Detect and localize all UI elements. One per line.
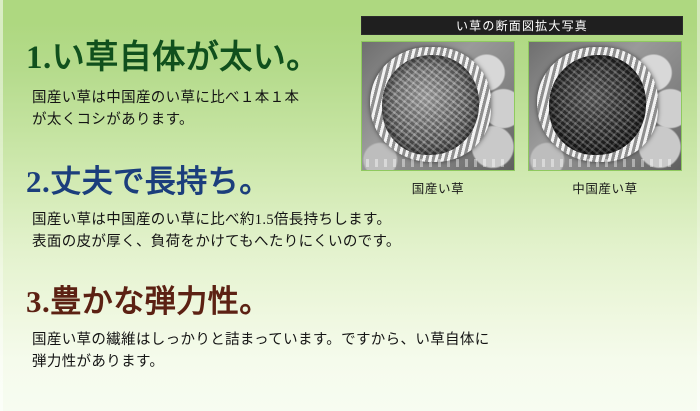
feature-section-3: 3.豊かな弾力性。 国産い草の繊維はしっかりと詰まっています。ですから、い草自体…	[26, 286, 490, 374]
photo-row: 国産い草 中国産い草	[361, 41, 683, 197]
feature-2-body-line-2: 表面の皮が厚く、負荷をかけてもへたりにくいのです。	[32, 231, 401, 253]
photo-caption-domestic: 国産い草	[361, 178, 515, 197]
feature-1-body-line-1: 国産い草は中国産のい草に比べ１本１本	[32, 87, 320, 109]
feature-section-2: 2.丈夫で長持ち。 国産い草は中国産のい草に比べ約1.5倍長持ちします。 表面の…	[26, 166, 401, 254]
promo-poster: 1.い草自体が太い。 国産い草は中国産のい草に比べ１本１本 が太くコシがあります…	[0, 0, 700, 411]
photo-frame-chinese	[528, 41, 682, 171]
photo-frame-domestic	[361, 41, 515, 171]
cross-section-photo-panel: い草の断面図拡大写真 国産い草	[361, 16, 683, 197]
feature-2-heading: 2.丈夫で長持ち。	[26, 166, 401, 197]
feature-1-body: 国産い草は中国産のい草に比べ１本１本 が太くコシがあります。	[32, 87, 320, 132]
photo-caption-chinese: 中国産い草	[528, 178, 682, 197]
sem-photo-chinese-icon	[529, 42, 681, 170]
feature-2-body: 国産い草は中国産のい草に比べ約1.5倍長持ちします。 表面の皮が厚く、負荷をかけ…	[32, 209, 401, 254]
photo-panel-header: い草の断面図拡大写真	[361, 16, 683, 35]
photo-cell-chinese: 中国産い草	[528, 41, 682, 197]
feature-3-body-line-1: 国産い草の繊維はしっかりと詰まっています。ですから、い草自体に	[32, 329, 490, 351]
content-area: 1.い草自体が太い。 国産い草は中国産のい草に比べ１本１本 が太くコシがあります…	[0, 0, 700, 411]
feature-3-body: 国産い草の繊維はしっかりと詰まっています。ですから、い草自体に 弾力性があります…	[32, 329, 490, 374]
feature-3-body-line-2: 弾力性があります。	[32, 351, 490, 373]
feature-section-1: 1.い草自体が太い。 国産い草は中国産のい草に比べ１本１本 が太くコシがあります…	[26, 42, 320, 132]
feature-1-heading: 1.い草自体が太い。	[26, 42, 320, 75]
feature-2-body-line-1: 国産い草は中国産のい草に比べ約1.5倍長持ちします。	[32, 209, 401, 231]
sem-photo-domestic-icon	[362, 42, 514, 170]
feature-1-body-line-2: が太くコシがあります。	[32, 109, 320, 131]
feature-3-heading: 3.豊かな弾力性。	[26, 286, 490, 317]
photo-cell-domestic: 国産い草	[361, 41, 515, 197]
